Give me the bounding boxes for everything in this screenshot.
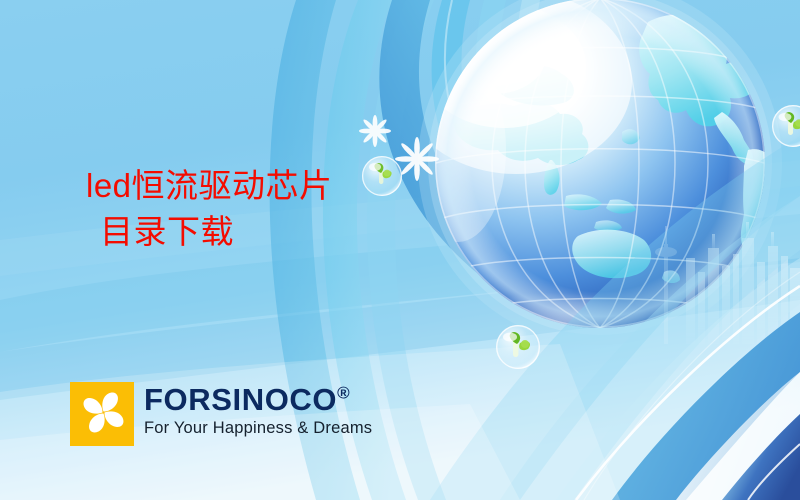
- registered-trademark-icon: ®: [337, 384, 350, 403]
- brand-logo-lockup: FORSINOCO® For Your Happiness & Dreams: [70, 382, 372, 446]
- headline-line-2: 目录下载: [86, 209, 333, 255]
- promo-banner: led恒流驱动芯片 目录下载 FORSINOCO® For Your Ha: [0, 0, 800, 500]
- headline: led恒流驱动芯片 目录下载: [86, 163, 333, 254]
- bubble-green-sprout-left: [362, 156, 402, 196]
- headline-line-1: led恒流驱动芯片: [86, 163, 333, 209]
- bubble-green-sprout-mid: [496, 325, 540, 369]
- brand-wordmark-text: FORSINOCO: [144, 382, 337, 417]
- pinwheel-flower-icon: [70, 382, 134, 446]
- brand-wordmark: FORSINOCO®: [144, 384, 372, 415]
- brand-tagline: For Your Happiness & Dreams: [144, 420, 372, 437]
